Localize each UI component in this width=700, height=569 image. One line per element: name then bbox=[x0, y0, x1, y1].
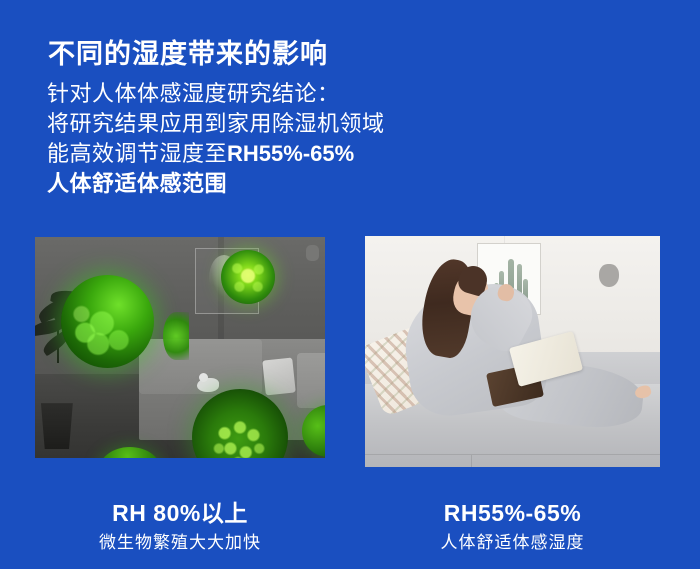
caption-subtitle: 人体舒适体感湿度 bbox=[365, 530, 660, 556]
wall-knob bbox=[306, 245, 319, 261]
wall-knob bbox=[599, 264, 619, 287]
photo-comfort-humidity bbox=[365, 236, 660, 467]
sofa-armrest bbox=[297, 353, 325, 408]
scene-bright-living-room bbox=[365, 236, 660, 467]
sofa-cushion bbox=[262, 358, 295, 395]
microbe-orb bbox=[221, 250, 275, 304]
caption-title: RH 80%以上 bbox=[35, 498, 325, 528]
body-line-1: 针对人体体感湿度研究结论： bbox=[47, 79, 467, 109]
caption-comfort-humidity: RH55%-65% 人体舒适体感湿度 bbox=[365, 498, 660, 556]
body-line-2: 将研究结果应用到家用除湿机领域 bbox=[47, 109, 467, 139]
caption-high-humidity: RH 80%以上 微生物繁殖大大加快 bbox=[35, 498, 325, 556]
caption-title: RH55%-65% bbox=[365, 498, 660, 528]
microbe-orb bbox=[163, 312, 189, 360]
sofa-seam bbox=[365, 454, 660, 455]
caption-subtitle: 微生物繁殖大大加快 bbox=[35, 530, 325, 556]
bird-ornament bbox=[197, 378, 219, 392]
photo-high-humidity bbox=[35, 237, 325, 458]
microbe-orb bbox=[61, 275, 154, 368]
sofa-seam bbox=[471, 455, 472, 467]
body-line-3: 能高效调节湿度至RH55%-65% bbox=[47, 139, 467, 169]
body-copy-block: 针对人体体感湿度研究结论： 将研究结果应用到家用除湿机领域 能高效调节湿度至RH… bbox=[47, 79, 467, 199]
scene-dark-living-room bbox=[35, 237, 325, 458]
page-title: 不同的湿度带来的影响 bbox=[48, 36, 328, 72]
humidity-infographic-poster: 不同的湿度带来的影响 针对人体体感湿度研究结论： 将研究结果应用到家用除湿机领域… bbox=[0, 0, 700, 569]
body-line-3-highlight: RH55%-65% bbox=[227, 141, 354, 166]
body-line-4: 人体舒适体感范围 bbox=[47, 169, 467, 199]
body-line-3-prefix: 能高效调节湿度至 bbox=[47, 141, 227, 166]
